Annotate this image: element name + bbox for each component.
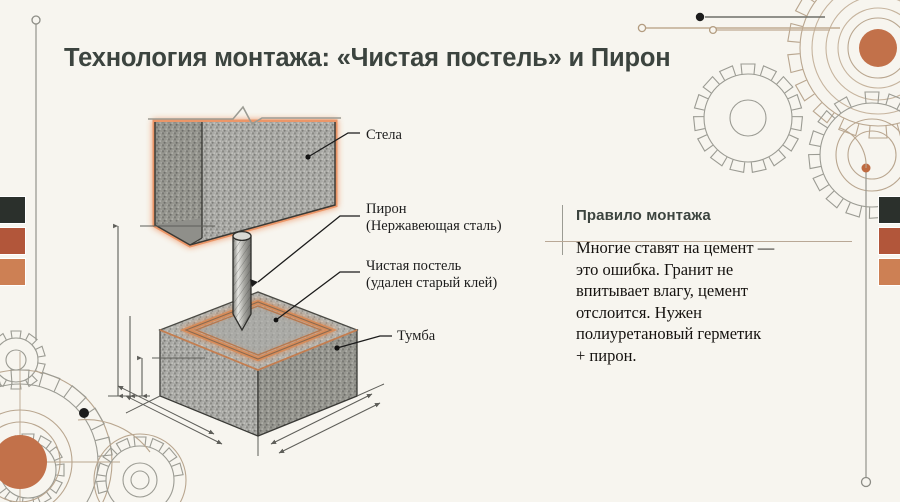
callout-label-clean-bed: Чистая постель (удален старый клей) bbox=[366, 258, 497, 292]
panel-body-text: Многие ставят на цемент — это ошибка. Гр… bbox=[576, 237, 821, 366]
panel-title: Правило монтажа bbox=[576, 207, 821, 224]
panel-vertical-accent bbox=[562, 205, 563, 255]
callout-label-pyron: Пирон (Нержавеющая сталь) bbox=[366, 201, 502, 235]
stainless-steel-pin bbox=[233, 232, 251, 330]
rule-panel: Правило монтажа Многие ставят на цемент … bbox=[576, 207, 821, 366]
slide-canvas: Технология монтажа: «Чистая постель» и П… bbox=[0, 0, 900, 502]
callout-label-stela: Стела bbox=[366, 127, 402, 144]
granite-stela bbox=[148, 107, 341, 245]
granite-pedestal bbox=[160, 292, 357, 436]
callout-label-tumba: Тумба bbox=[397, 328, 435, 345]
